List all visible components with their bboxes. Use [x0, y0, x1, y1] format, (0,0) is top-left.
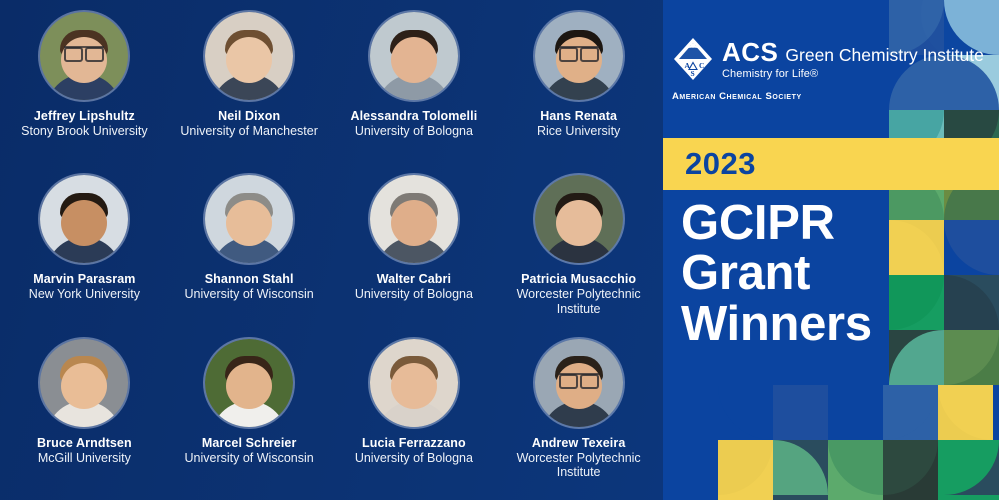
winner-name: Andrew Texeira — [532, 436, 626, 450]
winner-card: Shannon StahlUniversity of Wisconsin — [167, 169, 332, 332]
winner-affiliation: Worcester Polytechnic Institute — [499, 451, 659, 480]
winner-photo — [40, 339, 128, 427]
winner-affiliation: University of Wisconsin — [185, 451, 314, 466]
winner-photo — [535, 175, 623, 263]
winner-affiliation: University of Manchester — [180, 124, 318, 139]
winner-card: Alessandra TolomelliUniversity of Bologn… — [332, 6, 497, 169]
winner-photo — [370, 175, 458, 263]
title-line-3: Winners — [681, 299, 931, 349]
winner-name: Jeffrey Lipshultz — [34, 109, 135, 123]
winner-photo — [40, 12, 128, 100]
winner-photo — [370, 12, 458, 100]
winner-affiliation: University of Wisconsin — [185, 287, 314, 302]
winner-affiliation: Stony Brook University — [21, 124, 147, 139]
winner-affiliation: Rice University — [537, 124, 620, 139]
winner-card: Neil DixonUniversity of Manchester — [167, 6, 332, 169]
title-line-2: Grant — [681, 248, 931, 298]
winner-affiliation: University of Bologna — [355, 124, 473, 139]
winner-photo — [205, 12, 293, 100]
acs-logo: A C S ACS Green Chemistry Institute Chem… — [672, 36, 972, 112]
winner-photo — [40, 175, 128, 263]
year-label: 2023 — [685, 146, 756, 182]
winner-photo — [205, 339, 293, 427]
winner-affiliation: University of Bologna — [355, 451, 473, 466]
winner-name: Marcel Schreier — [202, 436, 297, 450]
winner-card: Bruce ArndtsenMcGill University — [2, 333, 167, 496]
winner-photo — [535, 339, 623, 427]
year-band: 2023 — [663, 138, 999, 190]
winner-card: Marcel SchreierUniversity of Wisconsin — [167, 333, 332, 496]
winner-card: Hans RenataRice University — [496, 6, 661, 169]
acs-institute-name: Green Chemistry Institute — [785, 47, 983, 65]
winner-card: Patricia MusacchioWorcester Polytechnic … — [496, 169, 661, 332]
winner-name: Bruce Arndtsen — [37, 436, 132, 450]
winner-name: Marvin Parasram — [33, 272, 135, 286]
acs-tagline: Chemistry for Life® — [722, 68, 984, 80]
acs-acronym: ACS — [722, 39, 778, 65]
title-line-1: GCIPR — [681, 198, 931, 248]
winner-card: Walter CabriUniversity of Bologna — [332, 169, 497, 332]
winner-name: Patricia Musacchio — [521, 272, 636, 286]
winner-name: Lucia Ferrazzano — [362, 436, 466, 450]
winner-photo — [205, 175, 293, 263]
svg-text:C: C — [699, 61, 704, 70]
acs-society-name: American Chemical Society — [672, 91, 972, 102]
svg-text:S: S — [691, 69, 695, 78]
acs-diamond-eagle-icon: A C S — [672, 36, 714, 82]
winner-name: Neil Dixon — [218, 109, 280, 123]
winner-card: Lucia FerrazzanoUniversity of Bologna — [332, 333, 497, 496]
winner-name: Hans Renata — [540, 109, 617, 123]
winner-photo — [535, 12, 623, 100]
glasses-icon — [559, 373, 599, 385]
winner-affiliation: Worcester Polytechnic Institute — [499, 287, 659, 316]
winner-name: Alessandra Tolomelli — [350, 109, 477, 123]
winner-name: Shannon Stahl — [205, 272, 294, 286]
winner-affiliation: New York University — [29, 287, 140, 302]
winner-name: Walter Cabri — [377, 272, 451, 286]
winners-grid: Jeffrey LipshultzStony Brook UniversityN… — [0, 0, 663, 500]
winner-card: Marvin ParasramNew York University — [2, 169, 167, 332]
winner-affiliation: University of Bologna — [355, 287, 473, 302]
winner-card: Andrew TexeiraWorcester Polytechnic Inst… — [496, 333, 661, 496]
page-title: GCIPR Grant Winners — [681, 198, 931, 349]
winner-photo — [370, 339, 458, 427]
glasses-icon — [559, 46, 599, 58]
poster-canvas: Jeffrey LipshultzStony Brook UniversityN… — [0, 0, 999, 500]
winner-card: Jeffrey LipshultzStony Brook University — [2, 6, 167, 169]
winner-affiliation: McGill University — [38, 451, 131, 466]
brand-panel: A C S ACS Green Chemistry Institute Chem… — [663, 0, 999, 500]
glasses-icon — [64, 46, 104, 58]
